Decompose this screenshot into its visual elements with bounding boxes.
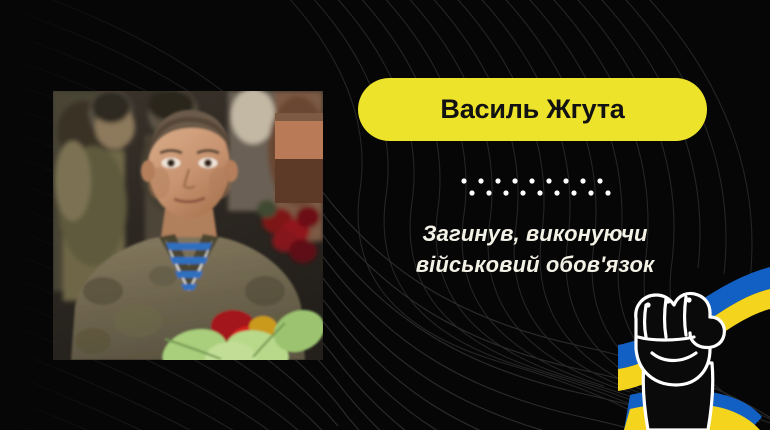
name-badge: Василь Жгута	[358, 78, 707, 141]
fist-with-flag-icon	[590, 245, 770, 430]
raised-fist	[636, 293, 725, 430]
censored-block	[275, 113, 323, 203]
soldier-name: Василь Жгута	[440, 94, 624, 125]
memorial-card: Василь Жгута	[0, 0, 770, 430]
soldier-portrait-photo	[53, 91, 323, 360]
dot-divider	[458, 174, 613, 200]
